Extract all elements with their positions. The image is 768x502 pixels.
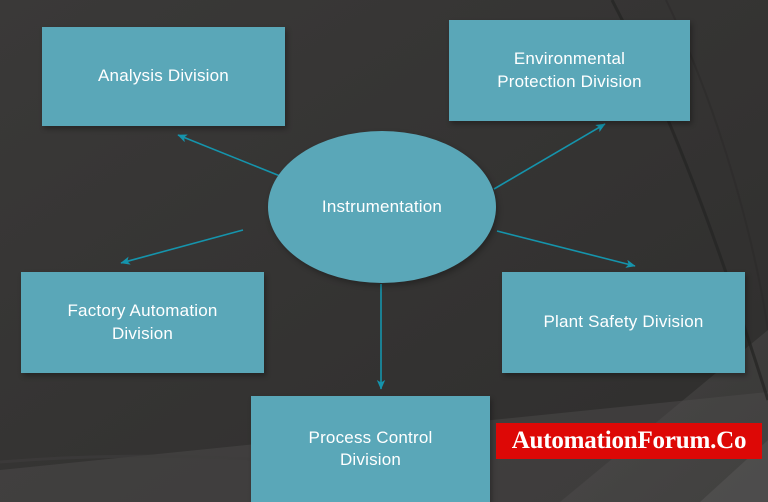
connector-hub-to-analysis (178, 135, 285, 178)
hub-instrumentation-label: Instrumentation (322, 197, 442, 217)
watermark-text: AutomationForum.Co (512, 427, 747, 455)
slide-canvas: Analysis Division EnvironmentalProtectio… (0, 0, 768, 502)
node-process-control-division[interactable]: Process ControlDivision (251, 396, 490, 502)
node-factory-automation-division-label: Factory AutomationDivision (67, 300, 217, 345)
connector-hub-to-factory (121, 230, 243, 263)
node-environmental-protection-division[interactable]: EnvironmentalProtection Division (449, 20, 690, 121)
node-process-control-division-label: Process ControlDivision (309, 427, 433, 472)
connector-hub-to-plant-safety (497, 231, 635, 266)
watermark-automationforum: AutomationForum.Co (496, 423, 762, 459)
connector-hub-to-environmental (494, 124, 605, 189)
node-analysis-division-label: Analysis Division (98, 65, 229, 87)
hub-instrumentation[interactable]: Instrumentation (268, 131, 496, 283)
node-plant-safety-division-label: Plant Safety Division (543, 311, 703, 333)
node-plant-safety-division[interactable]: Plant Safety Division (502, 272, 745, 373)
node-factory-automation-division[interactable]: Factory AutomationDivision (21, 272, 264, 373)
node-analysis-division[interactable]: Analysis Division (42, 27, 285, 126)
node-environmental-protection-division-label: EnvironmentalProtection Division (497, 48, 642, 93)
